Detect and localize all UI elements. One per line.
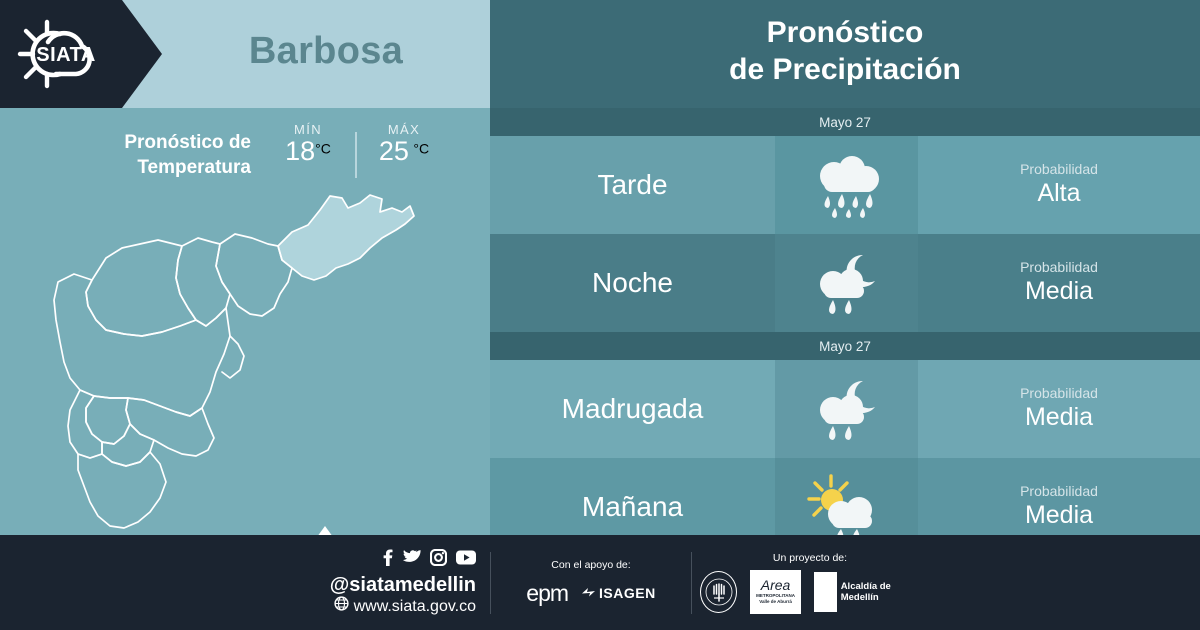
alcaldia-label: Alcaldía de Medellín: [841, 581, 920, 603]
youtube-icon[interactable]: [456, 550, 476, 570]
svg-text:SIATA: SIATA: [36, 44, 96, 66]
probability-caption: Probabilidad: [1020, 258, 1098, 276]
temperature-map-panel: Pronóstico de Temperatura MÍN 18°C MÁX 2…: [0, 108, 490, 535]
probability-caption: Probabilidad: [1020, 384, 1098, 402]
area-sub-line1: METROPOLITANA: [756, 593, 795, 598]
temperature-values: MÍN 18°C MÁX 25 °C: [273, 122, 439, 178]
city-name: Barbosa: [162, 0, 490, 108]
precipitation-forecast-table: Mayo 27 Tarde: [490, 108, 1200, 535]
temperature-max-caption: MÁX: [369, 122, 439, 137]
isagen-logo[interactable]: ISAGEN: [581, 585, 656, 601]
facebook-icon[interactable]: [381, 549, 394, 571]
sun-cloud-icon: SIATA: [14, 14, 118, 94]
temperature-title-line1: Pronóstico de: [51, 130, 251, 155]
temperature-max: MÁX 25 °C: [369, 122, 439, 165]
date-bar-2: Mayo 27: [490, 332, 1200, 360]
globe-icon: [334, 596, 349, 616]
compass-arrow: [317, 526, 333, 536]
project-caption: Un proyecto de:: [773, 552, 847, 564]
isagen-label: ISAGEN: [599, 585, 656, 601]
area-sub-label: METROPOLITANA Valle de Aburrá: [756, 593, 795, 604]
forecast-period: Tarde: [490, 136, 775, 234]
probability-value: Media: [1025, 276, 1093, 307]
probability-cell: Probabilidad Alta: [918, 136, 1200, 234]
instagram-icon[interactable]: [430, 549, 447, 571]
precipitation-title: Pronóstico de Precipitación: [490, 0, 1200, 108]
table-row[interactable]: Noche Probabilidad Media: [490, 234, 1200, 332]
probability-caption: Probabilidad: [1020, 160, 1098, 178]
website-url[interactable]: www.siata.gov.co: [354, 597, 476, 616]
alcaldia-shield-icon: [814, 572, 837, 612]
compass-north-icon: N: [308, 520, 342, 535]
area-sub-line2: Valle de Aburrá: [759, 599, 792, 604]
probability-cell: Probabilidad Media: [918, 360, 1200, 458]
temperature-summary: Pronóstico de Temperatura MÍN 18°C MÁX 2…: [0, 122, 490, 196]
area-script-label: Area: [761, 578, 791, 592]
project-column: Un proyecto de:: [692, 552, 920, 614]
precipitation-title-line1: Pronóstico: [767, 15, 924, 52]
table-row[interactable]: Madrugada Probabilidad Media: [490, 360, 1200, 458]
temperature-title: Pronóstico de Temperatura: [51, 122, 251, 180]
unal-seal-logo[interactable]: [700, 571, 737, 613]
support-column: Con el apoyo de: epm ISAGEN: [491, 559, 691, 607]
temperature-min: MÍN 18°C: [273, 122, 343, 165]
forecast-period: Noche: [490, 234, 775, 332]
social-handle[interactable]: @siatamedellin: [330, 574, 476, 596]
epm-logo[interactable]: epm: [526, 580, 568, 607]
precipitation-title-line2: de Precipitación: [729, 52, 961, 89]
twitter-icon[interactable]: [403, 549, 421, 571]
temperature-min-unit: °C: [315, 141, 331, 157]
temperature-divider: [355, 132, 357, 178]
social-icons: [381, 549, 476, 571]
area-metropolitana-logo[interactable]: Area METROPOLITANA Valle de Aburrá: [750, 570, 801, 614]
temperature-max-value: 25: [379, 136, 409, 166]
footer-content: @siatamedellin www.siata.gov.co: [300, 535, 920, 630]
forecast-period: Madrugada: [490, 360, 775, 458]
temperature-min-value: 18: [285, 136, 315, 166]
social-column: @siatamedellin www.siata.gov.co: [300, 549, 490, 616]
aburra-valley-map[interactable]: N: [30, 186, 470, 534]
temperature-max-unit: °C: [413, 141, 429, 157]
moon-cloud-rain-icon: [775, 360, 918, 458]
probability-value: Alta: [1037, 178, 1080, 209]
table-row[interactable]: Tarde: [490, 136, 1200, 234]
moon-cloud-rain-icon: [775, 234, 918, 332]
project-logos: Area METROPOLITANA Valle de Aburrá Alcal…: [700, 570, 920, 614]
website-row[interactable]: www.siata.gov.co: [334, 596, 476, 616]
footer: @siatamedellin www.siata.gov.co: [0, 535, 1200, 630]
support-logos: epm ISAGEN: [526, 580, 655, 607]
date-bar-1: Mayo 27: [490, 108, 1200, 136]
alcaldia-medellin-logo[interactable]: Alcaldía de Medellín: [814, 572, 920, 612]
support-caption: Con el apoyo de:: [551, 559, 630, 571]
probability-value: Media: [1025, 402, 1093, 433]
probability-cell: Probabilidad Media: [918, 234, 1200, 332]
temperature-min-caption: MÍN: [273, 122, 343, 137]
temperature-title-line2: Temperatura: [51, 155, 251, 180]
cloud-heavy-rain-icon: [775, 136, 918, 234]
probability-value: Media: [1025, 500, 1093, 531]
header: SIATA Barbosa Pronóstico de Precipitació…: [0, 0, 1200, 108]
probability-caption: Probabilidad: [1020, 482, 1098, 500]
weather-forecast-infographic: SIATA Barbosa Pronóstico de Precipitació…: [0, 0, 1200, 630]
